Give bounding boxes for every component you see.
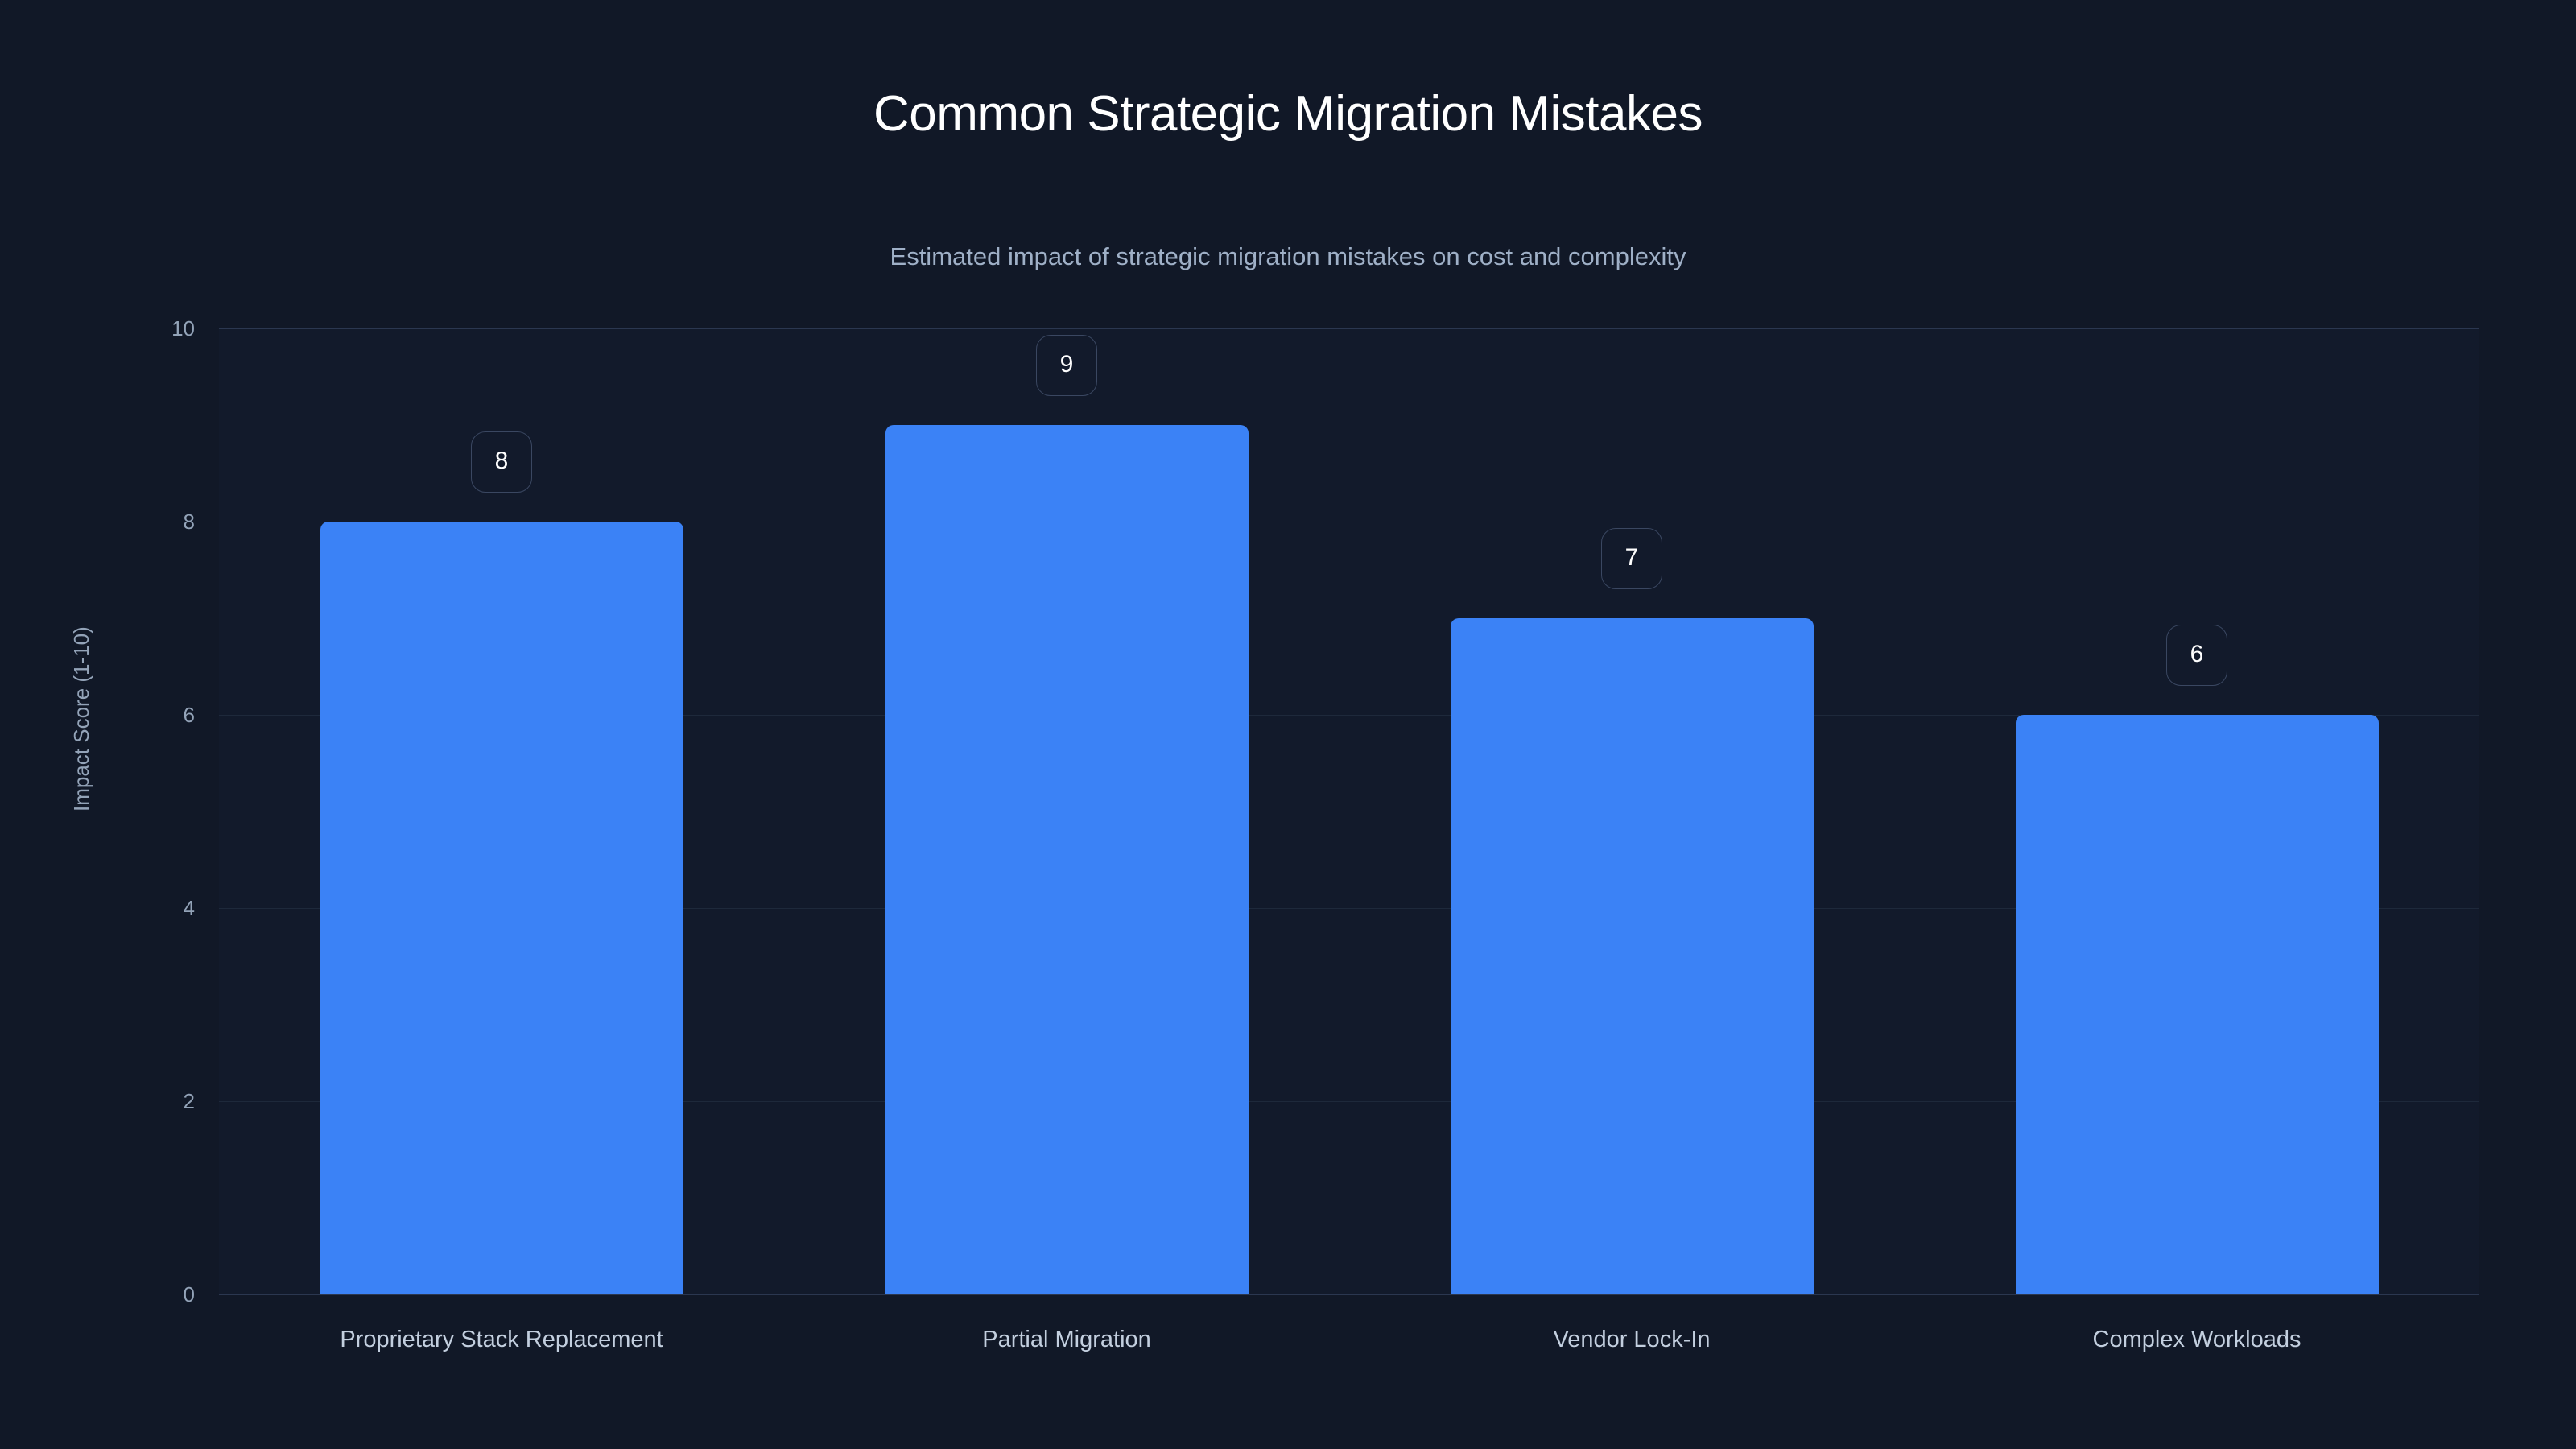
y-axis-title: Impact Score (1-10) — [71, 626, 92, 811]
y-tick-label: 0 — [184, 1284, 195, 1305]
x-tick-label: Proprietary Stack Replacement — [340, 1328, 663, 1352]
x-tick-label: Complex Workloads — [2093, 1328, 2301, 1352]
bar-value-badge: 9 — [1036, 335, 1097, 396]
y-tick-label: 8 — [184, 511, 195, 532]
bar[interactable] — [1451, 618, 1814, 1294]
chart-title: Common Strategic Migration Mistakes — [0, 87, 2576, 142]
y-tick-label: 4 — [184, 898, 195, 919]
x-tick-label: Vendor Lock-In — [1553, 1328, 1710, 1352]
y-tick-label: 6 — [184, 704, 195, 725]
y-tick-label: 10 — [171, 318, 195, 339]
chart-subtitle: Estimated impact of strategic migration … — [0, 242, 2576, 271]
bar-chart-figure: Common Strategic Migration Mistakes Esti… — [0, 0, 2576, 1449]
gridline — [219, 328, 2479, 329]
bar-value-badge: 6 — [2166, 625, 2227, 686]
gridline — [219, 1294, 2479, 1295]
bar[interactable] — [2016, 715, 2379, 1294]
plot-area — [219, 328, 2479, 1294]
bar[interactable] — [320, 522, 683, 1294]
bar-value-badge: 8 — [471, 431, 532, 493]
x-tick-label: Partial Migration — [982, 1328, 1151, 1352]
y-tick-label: 2 — [184, 1091, 195, 1112]
bar[interactable] — [885, 425, 1249, 1294]
bar-value-badge: 7 — [1601, 528, 1662, 589]
